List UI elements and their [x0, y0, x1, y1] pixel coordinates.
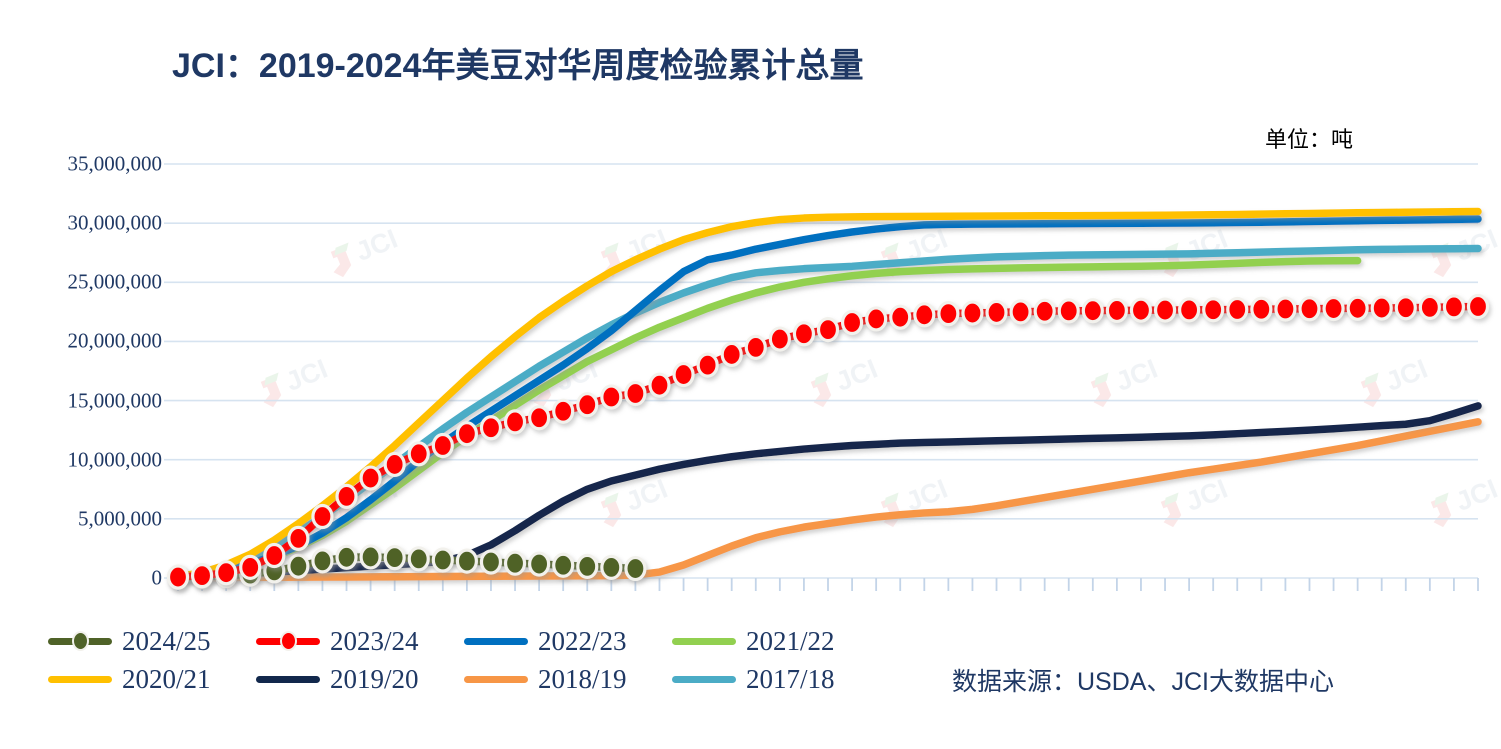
legend-label: 2021/22 [746, 626, 835, 657]
svg-text:JCI: JCI [832, 353, 882, 397]
data-point-marker [289, 555, 308, 577]
data-point-marker [650, 374, 669, 396]
legend-item-2022-23[interactable]: 2022/23 [460, 626, 660, 657]
data-point-marker [217, 562, 236, 584]
data-point-marker [1348, 297, 1367, 319]
legend-item-2017-18[interactable]: 2017/18 [668, 664, 868, 695]
data-point-marker [722, 343, 741, 365]
data-point-marker [554, 554, 573, 576]
legend-item-2018-19[interactable]: 2018/19 [460, 664, 660, 695]
data-point-marker [433, 549, 452, 571]
data-point-marker [289, 527, 308, 549]
data-point-marker [1156, 299, 1175, 321]
data-point-marker [1420, 296, 1439, 318]
legend-marker-icon [280, 631, 297, 651]
svg-text:JCI: JCI [1112, 353, 1162, 397]
data-point-marker [746, 336, 765, 358]
legend-marker-icon [72, 631, 89, 651]
data-point-marker [1372, 297, 1391, 319]
data-point-marker [409, 443, 428, 465]
data-point-marker [1300, 298, 1319, 320]
legend-row: 2024/252023/242022/232021/22 [44, 622, 964, 660]
data-point-marker [481, 551, 500, 573]
data-point-marker [626, 558, 645, 580]
svg-text:JCI: JCI [1382, 353, 1432, 397]
data-point-marker [939, 303, 958, 325]
legend-item-2020-21[interactable]: 2020/21 [44, 664, 244, 695]
legend-swatch-icon [668, 630, 740, 652]
data-point-marker [506, 411, 525, 433]
legend-label: 2019/20 [330, 664, 419, 695]
data-point-marker [1204, 299, 1223, 321]
data-point-marker [530, 407, 549, 429]
watermark-group: JCIJCIJCIJCIJCIJCIJCIJCIJCIJCIJCIJCIJCIJ… [255, 223, 1501, 529]
legend-item-2023-24[interactable]: 2023/24 [252, 626, 452, 657]
data-point-marker [361, 546, 380, 568]
data-point-marker [674, 364, 693, 386]
data-point-marker [481, 417, 500, 439]
data-point-marker [433, 435, 452, 457]
legend-swatch-icon [252, 668, 324, 690]
legend-swatch-icon [460, 668, 532, 690]
data-point-marker [409, 548, 428, 570]
data-point-marker [1180, 299, 1199, 321]
legend-label: 2020/21 [122, 664, 211, 695]
data-point-marker [1011, 301, 1030, 323]
data-point-marker [987, 301, 1006, 323]
data-point-marker [578, 394, 597, 416]
data-point-marker [169, 566, 188, 588]
data-point-marker [313, 505, 332, 527]
source-note: 数据来源：USDA、JCI大数据中心 [952, 662, 1334, 698]
data-point-marker [698, 354, 717, 376]
data-point-marker [457, 550, 476, 572]
data-point-marker [241, 556, 260, 578]
data-point-marker [530, 553, 549, 575]
data-point-marker [602, 386, 621, 408]
data-point-marker [891, 306, 910, 328]
data-point-marker [1059, 300, 1078, 322]
data-point-marker [313, 550, 332, 572]
legend-label: 2022/23 [538, 626, 627, 657]
data-point-marker [337, 546, 356, 568]
data-point-marker [337, 485, 356, 507]
series-2023-24 [169, 296, 1488, 589]
legend-swatch-icon [44, 630, 116, 652]
data-point-marker [1276, 298, 1295, 320]
data-point-marker [963, 302, 982, 324]
data-point-marker [385, 547, 404, 569]
data-point-marker [506, 552, 525, 574]
chart-root: JCI：2019-2024年美豆对华周度检验累计总量 单位：吨 05,000,0… [0, 0, 1501, 749]
data-point-marker [1324, 298, 1343, 320]
data-point-marker [915, 304, 934, 326]
data-point-marker [626, 382, 645, 404]
legend-swatch-icon [44, 668, 116, 690]
data-point-marker [1035, 300, 1054, 322]
legend-item-2019-20[interactable]: 2019/20 [252, 664, 452, 695]
legend-label: 2017/18 [746, 664, 835, 695]
data-point-marker [361, 467, 380, 489]
legend-label: 2023/24 [330, 626, 419, 657]
svg-text:JCI: JCI [1452, 473, 1501, 517]
data-point-marker [1469, 296, 1488, 318]
legend-swatch-icon [460, 630, 532, 652]
data-point-marker [554, 400, 573, 422]
data-point-marker [457, 423, 476, 445]
legend-label: 2024/25 [122, 626, 211, 657]
data-point-marker [770, 328, 789, 350]
data-point-marker [1252, 298, 1271, 320]
data-point-marker [819, 319, 838, 341]
data-point-marker [1083, 300, 1102, 322]
svg-text:JCI: JCI [1182, 473, 1232, 517]
data-point-marker [385, 453, 404, 475]
data-point-marker [1107, 299, 1126, 321]
data-point-marker [867, 308, 886, 330]
data-point-marker [1444, 296, 1463, 318]
svg-text:JCI: JCI [352, 223, 402, 267]
legend-swatch-icon [252, 630, 324, 652]
data-point-marker [602, 556, 621, 578]
legend-row: 2020/212019/202018/192017/18 [44, 660, 964, 698]
data-point-marker [578, 555, 597, 577]
data-point-marker [193, 565, 212, 587]
legend-label: 2018/19 [538, 664, 627, 695]
data-point-marker [1228, 298, 1247, 320]
data-point-marker [1396, 297, 1415, 319]
svg-text:JCI: JCI [282, 353, 332, 397]
chart-legend: 2024/252023/242022/232021/222020/212019/… [44, 622, 964, 698]
data-point-marker [843, 312, 862, 334]
data-point-marker [1131, 299, 1150, 321]
legend-item-2021-22[interactable]: 2021/22 [668, 626, 868, 657]
data-point-marker [265, 545, 284, 567]
legend-item-2024-25[interactable]: 2024/25 [44, 626, 244, 657]
data-point-marker [794, 323, 813, 345]
gridlines [164, 164, 1478, 578]
legend-swatch-icon [668, 668, 740, 690]
